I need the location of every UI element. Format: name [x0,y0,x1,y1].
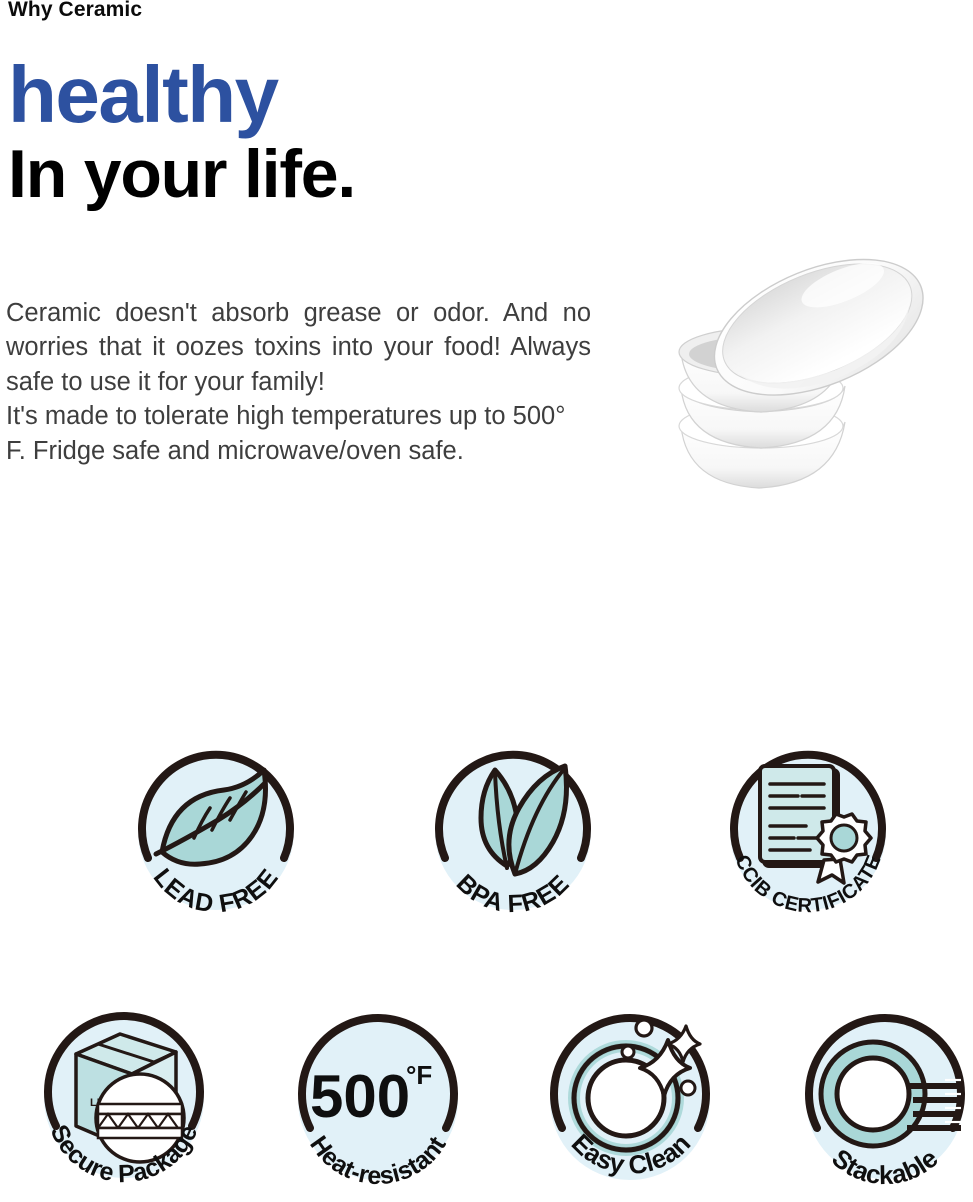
badge-stackable[interactable]: Stackable [795,1012,973,1202]
temperature-unit: °F [406,1060,432,1090]
badge-secure-package[interactable]: LE TAUO Secure Package [32,1008,217,1198]
badge-ccib-certificate[interactable]: CCIB CERTIFICATE [718,742,898,927]
headline-accent: healthy [8,58,628,132]
badge-bpa-free[interactable]: BPA FREE [423,742,603,927]
headline-main: In your life. [8,140,628,209]
badge-easy-clean[interactable]: Easy Clean [540,1012,722,1202]
body-copy: Ceramic doesn't absorb grease or odor. A… [6,296,591,468]
badge-lead-free[interactable]: LEAD FREE [126,742,306,927]
badge-heat-resistant[interactable]: 500 °F Heat-resistant [288,1012,470,1202]
product-photo [655,228,973,528]
temperature-value: 500 [310,1063,410,1130]
page-title: healthy In your life. [8,58,628,209]
body-paragraph-1: Ceramic doesn't absorb grease or odor. A… [6,296,591,399]
body-paragraph-2: It's made to tolerate high temperatures … [6,399,591,468]
page-eyebrow: Why Ceramic [8,0,142,22]
